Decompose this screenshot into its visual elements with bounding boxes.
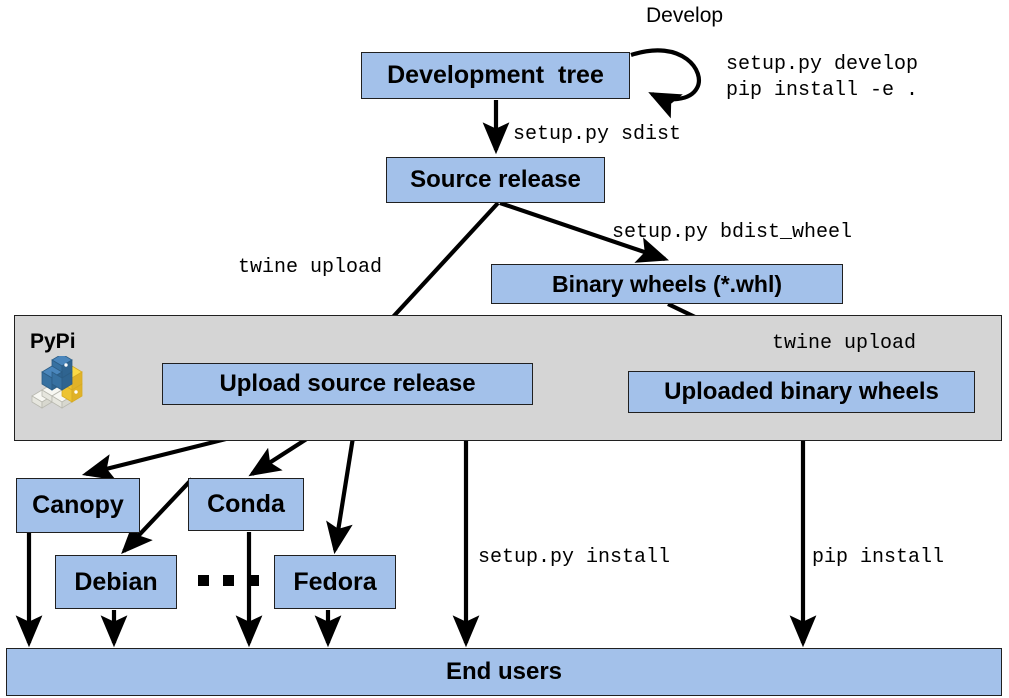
label-setup-py-sdist: setup.py sdist	[513, 122, 681, 148]
node-fedora[interactable]: Fedora	[274, 555, 396, 609]
node-source-release[interactable]: Source release	[386, 157, 605, 203]
node-development-tree[interactable]: Development tree	[361, 52, 630, 99]
node-conda[interactable]: Conda	[188, 478, 304, 531]
pypi-group-title: PyPi	[30, 330, 76, 354]
pypi-python-blocks-logo	[26, 356, 88, 410]
label-twine-upload-source: twine upload	[238, 255, 382, 281]
node-uploaded-binary-wheels[interactable]: Uploaded binary wheels	[628, 371, 975, 413]
node-upload-source-release[interactable]: Upload source release	[162, 363, 533, 405]
label-setup-py-install: setup.py install	[478, 545, 670, 571]
node-debian[interactable]: Debian	[55, 555, 177, 609]
label-develop-commands: setup.py develop pip install -e .	[726, 52, 918, 103]
ellipsis-more-distros	[198, 575, 259, 586]
node-canopy[interactable]: Canopy	[16, 478, 140, 533]
node-binary-wheels[interactable]: Binary wheels (*.whl)	[491, 264, 843, 304]
node-end-users[interactable]: End users	[6, 648, 1002, 696]
label-pip-install: pip install	[812, 545, 944, 571]
label-setup-py-bdist-wheel: setup.py bdist_wheel	[612, 220, 852, 246]
edge-develop-loop	[631, 50, 699, 99]
label-develop: Develop	[646, 4, 723, 28]
packaging-flow-diagram: PyPi	[0, 0, 1009, 698]
label-twine-upload-wheels: twine upload	[772, 331, 916, 357]
